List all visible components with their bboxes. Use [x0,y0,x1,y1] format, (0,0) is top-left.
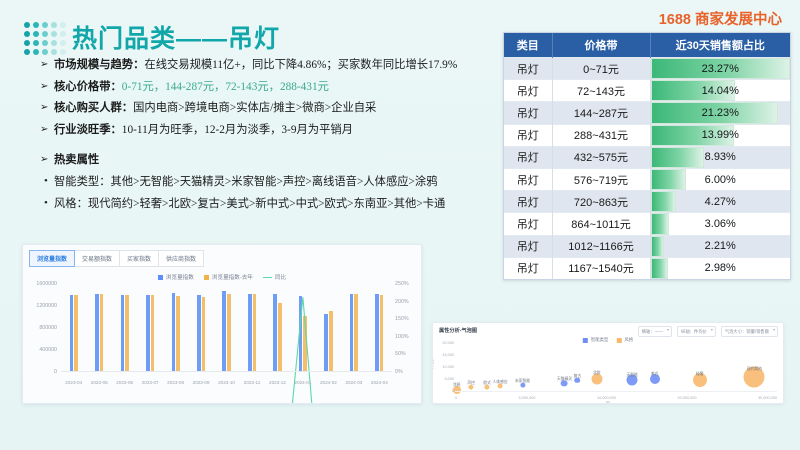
legend-item[interactable]: 浏览量指数 [158,273,194,281]
yoy-line-series [61,284,392,404]
bullet-marker-icon: ➢ [40,80,54,94]
y2-tick: 250% [395,281,409,287]
trend-chart-legend: 浏览量指数浏览量指数-去年同比 [23,273,421,281]
y-tick: 400000 [39,347,57,353]
tab-供应商指数[interactable]: 供应商指数 [158,250,204,267]
x-tick: 2023-06 [112,380,137,385]
cell-category: 吊灯 [504,257,552,279]
legend-label: 浏览量指数 [166,273,194,281]
bubble-x-axis-label: pv [606,400,610,404]
share-value: 13.99% [651,127,791,143]
cell-price-range: 288~431元 [552,124,650,146]
bubble-label: 轻奢 [696,372,704,377]
cell-price-range: 432~575元 [552,146,650,168]
cell-sales-share: 21.23% [650,102,790,124]
tab-交易额指数[interactable]: 交易额指数 [74,250,120,267]
table-row: 吊灯1167~1540元2.98% [504,257,790,279]
legend-swatch-icon [263,277,272,278]
column-header-price-range: 价格带 [552,33,650,58]
table-header-row: 类目 价格带 近30天销售额占比 [504,33,790,58]
table-row: 吊灯720~863元4.27% [504,191,790,213]
cell-price-range: 864~1011元 [552,213,650,235]
cell-sales-share: 23.27% [650,58,790,80]
bullet-text: 核心价格带：0-71元，144-287元，72-143元，288-431元 [54,80,329,94]
bubble-label: 无智能 [626,373,637,378]
bullet-item: ➢核心购买人群：国内电商>跨境电商>实体店/摊主>微商>企业自采 [40,101,510,115]
share-value: 3.06% [651,216,791,232]
legend-swatch-icon [616,338,621,343]
dropdown-横轴：——[interactable]: 横轴：—— [638,326,672,337]
table-row: 吊灯72~143元14.04% [504,80,790,102]
y2-tick: 200% [395,299,409,305]
cell-price-range: 720~863元 [552,191,650,213]
cell-price-range: 72~143元 [552,80,650,102]
bullet-subitem: •智能类型：其他>无智能>天猫精灵>米家智能>声控>离线语音>人体感应>涂鸦 [40,175,510,189]
page-title: 热门品类——吊灯 [72,19,280,55]
column-header-sales-share: 近30天销售额占比 [650,33,790,58]
share-value: 2.98% [651,260,791,276]
slide-root: 热门品类——吊灯 1688 商家发展中心 ➢市场规模与趋势：在线交易规模11亿+… [0,0,800,450]
bubble-plot-area: 涂鸦声控欧式人体感应米家智能天猫精灵复古北欧无智能美式轻奢现代简约 [455,343,777,391]
bullet-marker-icon: ➢ [40,123,54,137]
bullet-marker-icon: ➢ [40,153,54,167]
bubble-chart-controls: 横轴：——纵轴：件均价气泡大小：销量/销售额 [638,326,778,337]
bullet-section-title: ➢ 热卖属性 [40,153,510,167]
bullet-text: 市场规模与趋势：在线交易规模11亿+，同比下降4.86%；买家数年同比增长17.… [54,58,457,72]
cell-category: 吊灯 [504,213,552,235]
cell-sales-share: 3.06% [650,213,790,235]
table-row: 吊灯1012~1166元2.21% [504,235,790,257]
cell-price-range: 1167~1540元 [552,257,650,279]
table-row: 吊灯0~71元23.27% [504,58,790,80]
bullet-text: 行业淡旺季：10-11月为旺季，12-2月为淡季，3-9月为平销月 [54,123,353,137]
cell-sales-share: 2.98% [650,257,790,279]
trend-chart-tabs: 浏览量指数交易额指数买家指数供应商指数 [23,245,421,269]
x-axis-line [61,371,392,372]
bubble-chart-title: 属性分析-气泡图 [439,327,477,334]
bubble-chart-card: 属性分析-气泡图 横轴：——纵轴：件均价气泡大小：销量/销售额 智能类型风格 2… [432,322,784,404]
share-value: 21.23% [651,105,791,121]
cell-category: 吊灯 [504,124,552,146]
bubble-y-axis-label: 件均价 [432,359,436,370]
bubble-y-tick: 15,000 [442,353,454,357]
bubble-label: 涂鸦 [453,383,461,388]
bubble-label: 美式 [651,372,659,377]
bubble-x-tick: 5,000,000 [519,396,536,400]
x-tick: 2024-01 [290,380,315,385]
share-value: 23.27% [651,61,791,77]
cell-category: 吊灯 [504,80,552,102]
cell-price-range: 576~719元 [552,168,650,190]
y-tick: 800000 [39,325,57,331]
y2-tick: 100% [395,334,409,340]
legend-swatch-icon [583,338,588,343]
x-tick: 2024-02 [316,380,341,385]
cell-category: 吊灯 [504,235,552,257]
cell-sales-share: 6.00% [650,168,790,190]
legend-label: 同比 [275,273,286,281]
bubble-y-tick: 5,000 [444,377,454,381]
bullet-dot-icon: • [40,175,54,189]
bubble-label: 欧式 [483,381,491,386]
column-header-category: 类目 [504,33,552,58]
bubble-y-tick: 20,000 [442,341,454,345]
bullet-item: ➢市场规模与趋势：在线交易规模11亿+，同比下降4.86%；买家数年同比增长17… [40,58,510,72]
bubble-x-tick: 20,000,000 [677,396,696,400]
y-axis-right: 250%200%150%100%50%0% [393,284,415,372]
table-row: 吊灯144~287元21.23% [504,102,790,124]
dropdown-纵轴：件均价[interactable]: 纵轴：件均价 [677,326,716,337]
cell-category: 吊灯 [504,146,552,168]
price-band-table: 类目 价格带 近30天销售额占比 吊灯0~71元23.27%吊灯72~143元1… [503,32,791,280]
tab-买家指数[interactable]: 买家指数 [119,250,159,267]
y2-tick: 0% [395,369,403,375]
bullet-text: 核心购买人群：国内电商>跨境电商>实体店/摊主>微商>企业自采 [54,101,376,115]
trend-chart-plot: 160000012000008000004000000 250%200%150%… [29,284,415,386]
cell-category: 吊灯 [504,191,552,213]
cell-sales-share: 8.93% [650,146,790,168]
legend-label: 浏览量指数-去年 [212,273,253,281]
cell-sales-share: 13.99% [650,124,790,146]
share-value: 4.27% [651,194,791,210]
table-row: 吊灯864~1011元3.06% [504,213,790,235]
cell-price-range: 0~71元 [552,58,650,80]
bullet-text: 风格：现代简约>轻奢>北欧>复古>美式>新中式>中式>欧式>东南亚>其他>卡通 [54,197,445,211]
share-value: 14.04% [651,83,791,99]
share-value: 2.21% [651,238,791,254]
dot-matrix-icon [24,22,67,56]
legend-swatch-icon [158,275,163,280]
legend-swatch-icon [204,275,209,280]
share-value: 8.93% [651,149,791,165]
table-row: 吊灯432~575元8.93% [504,146,790,168]
bullet-item: ➢核心价格带：0-71元，144-287元，72-143元，288-431元 [40,80,510,94]
y-axis-left: 160000012000008000004000000 [29,284,59,372]
bubble-label: 声控 [467,381,475,386]
legend-item[interactable]: 浏览量指数-去年 [204,273,253,281]
table-row: 吊灯288~431元13.99% [504,124,790,146]
y2-tick: 150% [395,316,409,322]
x-tick: 2023-07 [137,380,162,385]
bubble-label: 北欧 [593,371,601,376]
bubble-label: 天猫精灵 [557,377,572,382]
bullet-list: ➢市场规模与趋势：在线交易规模11亿+，同比下降4.86%；买家数年同比增长17… [40,58,510,218]
x-tick: 2024-04 [367,380,392,385]
y-tick: 1600000 [36,281,57,287]
y-tick: 1200000 [36,303,57,309]
brand-logo: 1688 商家发展中心 [659,8,782,29]
bubble-x-axis-labels: 05,000,00010,000,00020,000,00030,000,000 [455,396,777,400]
bubble-label: 人体感应 [492,380,507,385]
cell-category: 吊灯 [504,102,552,124]
x-tick: 2024-03 [341,380,366,385]
bubble-y-tick: 10,000 [442,365,454,369]
x-tick: 2023-11 [239,380,264,385]
bubble-x-tick: 30,000,000 [758,396,777,400]
bullet-item: ➢行业淡旺季：10-11月为旺季，12-2月为淡季，3-9月为平销月 [40,123,510,137]
table-row: 吊灯576~719元6.00% [504,168,790,190]
x-tick: 2023-05 [86,380,111,385]
bubble-label: 米家智能 [515,379,530,384]
bullet-text: 智能类型：其他>无智能>天猫精灵>米家智能>声控>离线语音>人体感应>涂鸦 [54,175,438,189]
dropdown-气泡大小：销量/销售额[interactable]: 气泡大小：销量/销售额 [721,326,778,337]
bubble-x-tick: 0 [455,396,457,400]
bullet-subitem: •风格：现代简约>轻奢>北欧>复古>美式>新中式>中式>欧式>东南亚>其他>卡通 [40,197,510,211]
tab-浏览量指数[interactable]: 浏览量指数 [29,250,75,267]
cell-sales-share: 4.27% [650,191,790,213]
x-axis-labels: 2023-042023-052023-062023-072023-082023-… [61,380,392,385]
bubble-label: 复古 [574,374,582,379]
share-value: 6.00% [651,172,791,188]
cell-sales-share: 2.21% [650,235,790,257]
cell-category: 吊灯 [504,58,552,80]
bullet-dot-icon: • [40,197,54,211]
cell-price-range: 1012~1166元 [552,235,650,257]
y-tick: 0 [54,369,57,375]
bubble-label: 现代简约 [747,367,762,372]
trend-chart-card: 浏览量指数交易额指数买家指数供应商指数 浏览量指数浏览量指数-去年同比 1600… [22,244,422,404]
x-tick: 2023-09 [188,380,213,385]
x-tick: 2023-10 [214,380,239,385]
cell-price-range: 144~287元 [552,102,650,124]
bullet-marker-icon: ➢ [40,101,54,115]
bullet-marker-icon: ➢ [40,58,54,72]
x-tick: 2023-12 [265,380,290,385]
cell-sales-share: 14.04% [650,80,790,102]
x-tick: 2023-04 [61,380,86,385]
y2-tick: 50% [395,351,406,357]
cell-category: 吊灯 [504,168,552,190]
legend-item[interactable]: 同比 [263,273,286,281]
bubble-x-axis-line [455,391,777,392]
x-tick: 2023-08 [163,380,188,385]
